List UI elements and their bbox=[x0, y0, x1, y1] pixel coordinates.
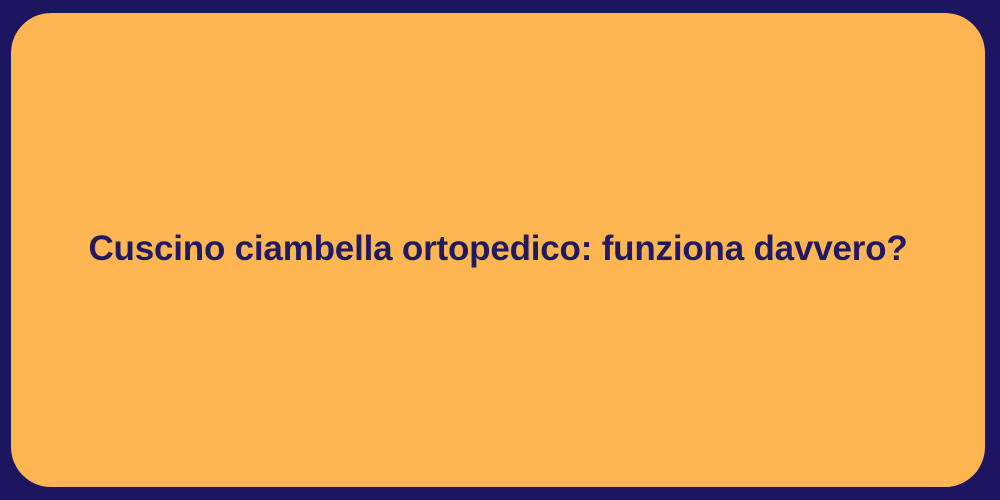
banner-card: Cuscino ciambella ortopedico: funziona d… bbox=[11, 13, 985, 487]
banner-root: Cuscino ciambella ortopedico: funziona d… bbox=[0, 0, 1000, 500]
banner-title: Cuscino ciambella ortopedico: funziona d… bbox=[48, 228, 947, 270]
